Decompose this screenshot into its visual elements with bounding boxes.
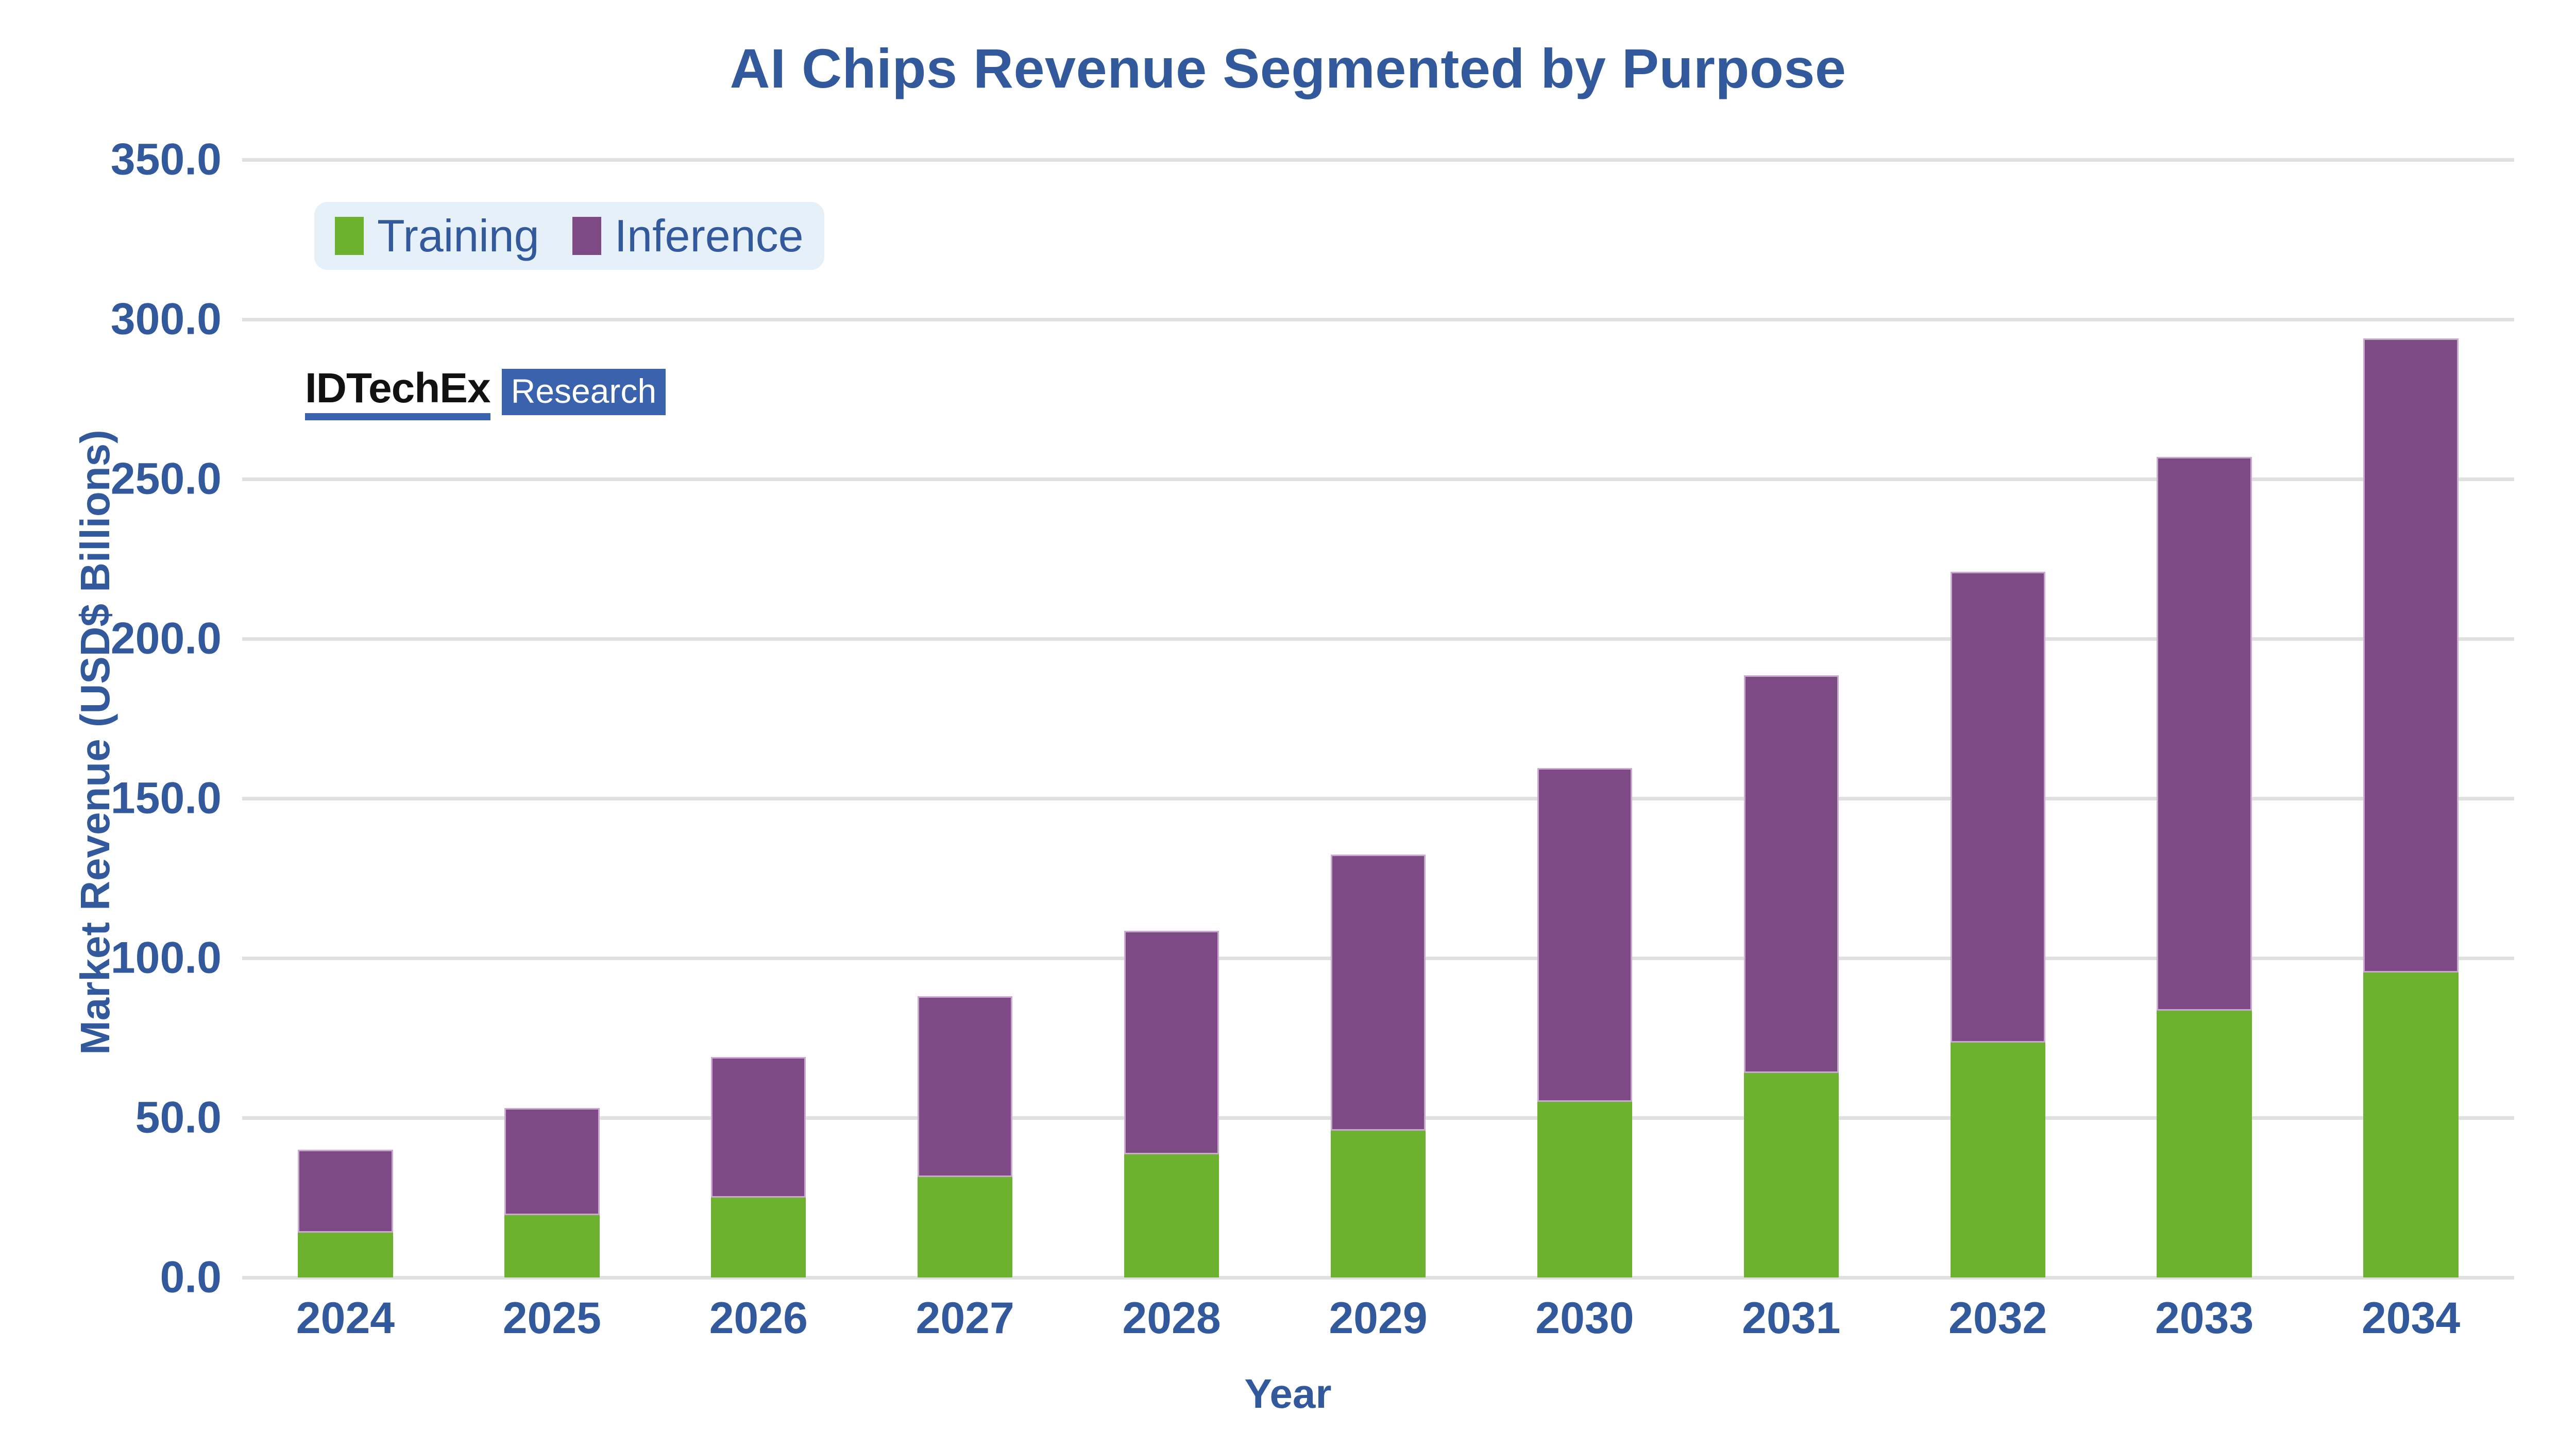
x-axis-tick-label: 2024 <box>296 1293 395 1344</box>
bar-group[interactable] <box>504 160 599 1277</box>
x-axis-tick-label: 2031 <box>1742 1293 1840 1344</box>
y-axis-tick-label: 150.0 <box>5 773 222 824</box>
chart-title: AI Chips Revenue Segmented by Purpose <box>0 36 2576 100</box>
bar-group[interactable] <box>1951 160 2045 1277</box>
logo-research-badge: Research <box>502 369 666 415</box>
logo-wordmark-wrap: IDTechEx <box>305 367 490 420</box>
bar-segment-training[interactable] <box>711 1198 806 1277</box>
bar-segment-inference[interactable] <box>1124 931 1219 1154</box>
x-axis-tick-label: 2026 <box>709 1293 808 1344</box>
chart-legend[interactable]: Training Inference <box>314 202 824 270</box>
bar-segment-training[interactable] <box>2363 973 2458 1277</box>
legend-swatch-inference-icon <box>572 217 601 255</box>
bar-group[interactable] <box>1537 160 1632 1277</box>
bar-group[interactable] <box>1744 160 1839 1277</box>
y-axis-tick-label: 200.0 <box>5 613 222 664</box>
legend-item-training[interactable]: Training <box>335 213 539 259</box>
bar-segment-inference[interactable] <box>1331 855 1426 1131</box>
bar-segment-training[interactable] <box>1331 1131 1426 1277</box>
legend-swatch-training-icon <box>335 217 364 255</box>
legend-item-inference[interactable]: Inference <box>572 213 804 259</box>
bar-segment-inference[interactable] <box>2363 338 2458 973</box>
x-axis-title: Year <box>0 1370 2576 1418</box>
bar-segment-inference[interactable] <box>1537 768 1632 1102</box>
bar-group[interactable] <box>1331 160 1426 1277</box>
x-axis-tick-label: 2032 <box>1948 1293 2047 1344</box>
y-axis-tick-label: 100.0 <box>5 933 222 984</box>
bar-segment-training[interactable] <box>1537 1102 1632 1277</box>
chart-container: AI Chips Revenue Segmented by Purpose Ma… <box>0 0 2576 1449</box>
bar-segment-inference[interactable] <box>2157 457 2251 1011</box>
y-axis-tick-label: 50.0 <box>5 1093 222 1144</box>
bar-segment-inference[interactable] <box>504 1108 599 1215</box>
bar-group[interactable] <box>1124 160 1219 1277</box>
bar-segment-inference[interactable] <box>918 996 1012 1177</box>
y-axis-tick-label: 300.0 <box>5 294 222 345</box>
bar-segment-inference[interactable] <box>711 1057 806 1198</box>
bar-segment-training[interactable] <box>1951 1043 2045 1277</box>
logo-wordmark: IDTechEx <box>305 367 490 410</box>
bar-segment-inference[interactable] <box>298 1150 393 1233</box>
bar-segment-training[interactable] <box>1744 1073 1839 1277</box>
legend-label-training: Training <box>377 213 539 259</box>
x-axis-tick-label: 2033 <box>2155 1293 2253 1344</box>
bar-group[interactable] <box>2363 160 2458 1277</box>
legend-label-inference: Inference <box>615 213 804 259</box>
y-axis-tick-label: 350.0 <box>5 134 222 185</box>
bar-segment-training[interactable] <box>504 1215 599 1277</box>
bar-segment-training[interactable] <box>1124 1154 1219 1277</box>
bar-group[interactable] <box>298 160 393 1277</box>
idtechex-research-logo: IDTechEx Research <box>305 367 666 420</box>
bar-group[interactable] <box>918 160 1012 1277</box>
logo-underline-bar <box>305 413 490 420</box>
bar-segment-inference[interactable] <box>1951 572 2045 1043</box>
bar-segment-training[interactable] <box>2157 1011 2251 1277</box>
x-axis-tick-label: 2034 <box>2362 1293 2460 1344</box>
x-axis-tick-label: 2029 <box>1329 1293 1427 1344</box>
x-axis-tick-label: 2027 <box>916 1293 1014 1344</box>
bar-segment-training[interactable] <box>918 1177 1012 1277</box>
y-axis-tick-label: 250.0 <box>5 454 222 505</box>
bar-segment-training[interactable] <box>298 1233 393 1277</box>
bar-group[interactable] <box>2157 160 2251 1277</box>
bar-segment-inference[interactable] <box>1744 675 1839 1073</box>
bar-group[interactable] <box>711 160 806 1277</box>
x-axis-tick-label: 2030 <box>1535 1293 1634 1344</box>
y-axis-tick-label: 0.0 <box>5 1252 222 1303</box>
plot-area <box>242 160 2514 1277</box>
x-axis-tick-label: 2025 <box>503 1293 601 1344</box>
x-axis-tick-label: 2028 <box>1122 1293 1221 1344</box>
